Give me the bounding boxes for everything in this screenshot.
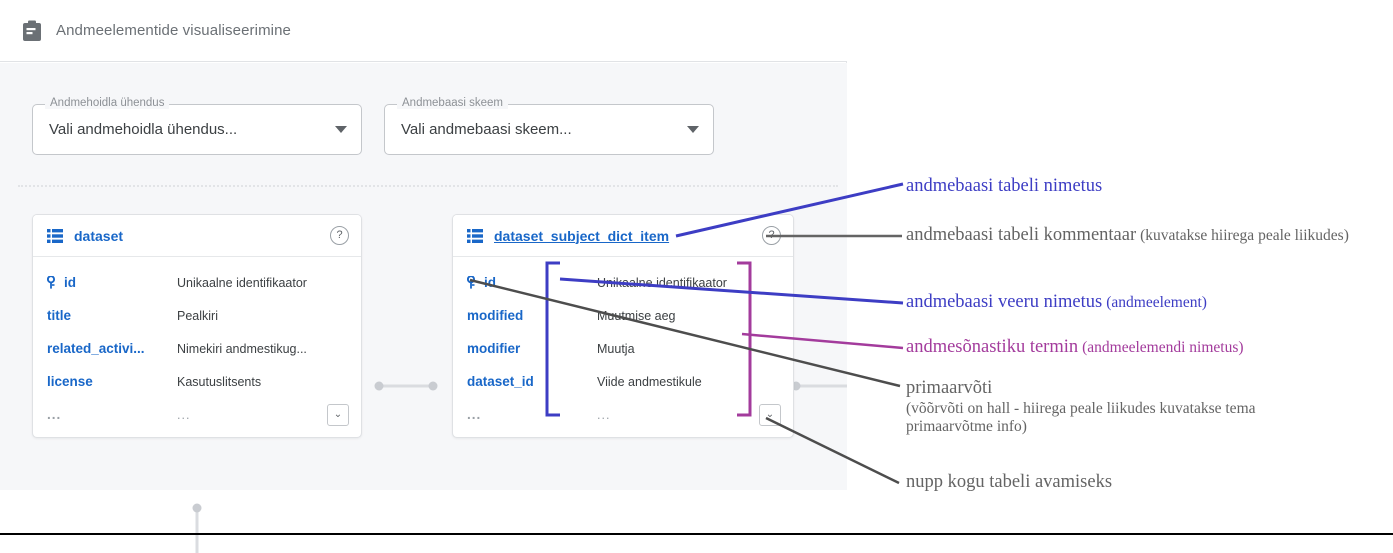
table-row[interactable]: dataset_id Viide andmestikule (453, 365, 793, 398)
table-row-more: ... ... ⌄ (33, 398, 361, 431)
clipboard-icon (22, 20, 42, 42)
annotation-main-text: andmebaasi tabeli kommentaar (906, 225, 1136, 245)
column-name-cell: license (47, 374, 177, 389)
chevron-down-icon[interactable] (335, 126, 347, 133)
column-name-label: license (47, 374, 93, 389)
table-row[interactable]: modified Muutmise aeg (453, 299, 793, 332)
table-name[interactable]: dataset (74, 228, 330, 244)
annotation-sub-text: (kuvatakse hiirega peale liikudes) (1140, 227, 1349, 244)
column-description: Kasutuslitsents (177, 375, 349, 389)
annotation-sub-text: (võõrvõti on hall - hiirega peale liikud… (906, 400, 1346, 437)
column-name-cell: dataset_id (467, 374, 597, 389)
column-name-label: modifier (467, 341, 520, 356)
table-list-icon (47, 229, 63, 243)
column-description: ... (597, 408, 759, 422)
app-header: Andmeelementide visualiseerimine (0, 0, 847, 62)
column-name-label: id (484, 275, 496, 290)
help-circle-icon[interactable]: ? (330, 226, 349, 245)
column-name-label: id (64, 275, 76, 290)
column-name-label: ... (47, 407, 61, 422)
database-schema-value: Vali andmebaasi skeem... (401, 121, 687, 138)
annotation-main-text: primaarvõti (906, 378, 1346, 400)
column-description: Unikaalne identifikaator (597, 276, 781, 290)
database-schema-select[interactable]: Andmebaasi skeem Vali andmebaasi skeem..… (384, 104, 714, 155)
column-description: Unikaalne identifikaator (177, 276, 349, 290)
application-canvas: Andmeelementide visualiseerimine Andmeho… (0, 0, 847, 490)
column-description: ... (177, 408, 327, 422)
annotation-sub-text: (andmeelemendi nimetus) (1082, 339, 1243, 356)
app-body: Andmehoidla ühendus Vali andmehoidla ühe… (0, 63, 847, 490)
column-name-cell: modifier (467, 341, 597, 356)
table-name[interactable]: dataset_subject_dict_item (494, 228, 762, 244)
database-schema-label: Andmebaasi skeem (397, 97, 508, 109)
column-name-label: related_activi... (47, 341, 145, 356)
table-row[interactable]: modifier Muutja (453, 332, 793, 365)
column-name-cell: title (47, 308, 177, 323)
column-name-cell: id (47, 275, 177, 290)
database-schema-select-wrap: Andmebaasi skeem Vali andmebaasi skeem..… (384, 104, 714, 155)
datastore-connection-select-wrap: Andmehoidla ühendus Vali andmehoidla ühe… (32, 104, 362, 155)
annotation-main-text: andmebaasi veeru nimetus (906, 292, 1102, 312)
chevron-down-icon[interactable] (687, 126, 699, 133)
table-card-header: dataset_subject_dict_item ? (453, 215, 793, 257)
column-name-cell: ... (47, 407, 177, 422)
annotation-table-name: andmebaasi tabeli nimetus (906, 176, 1376, 198)
table-row[interactable]: title Pealkiri (33, 299, 361, 332)
annotation-sub-text: (andmeelement) (1106, 294, 1207, 311)
column-description: Muutmise aeg (597, 309, 781, 323)
help-circle-icon[interactable]: ? (762, 226, 781, 245)
annotation-open-table-button: nupp kogu tabeli avamiseks (906, 472, 1346, 494)
table-row[interactable]: id Unikaalne identifikaator (33, 266, 361, 299)
section-divider (18, 185, 838, 187)
table-row[interactable]: id Unikaalne identifikaator (453, 266, 793, 299)
table-row[interactable]: related_activi... Nimekiri andmestikug..… (33, 332, 361, 365)
column-name-label: modified (467, 308, 523, 323)
table-card-header: dataset ? (33, 215, 361, 257)
table-row[interactable]: license Kasutuslitsents (33, 365, 361, 398)
column-name-label: title (47, 308, 71, 323)
column-name-label: dataset_id (467, 374, 534, 389)
column-name-cell: modified (467, 308, 597, 323)
datastore-connection-select[interactable]: Andmehoidla ühendus Vali andmehoidla ühe… (32, 104, 362, 155)
table-card-dataset-subject-dict-item[interactable]: dataset_subject_dict_item ? id Unikaalne… (452, 214, 794, 438)
annotation-primary-key: primaarvõti (võõrvõti on hall - hiirega … (906, 378, 1346, 436)
datastore-connection-value: Vali andmehoidla ühendus... (49, 121, 335, 138)
annotation-column-name: andmebaasi veeru nimetus (andmeelement) (906, 292, 1376, 314)
annotation-dictionary-term: andmesõnastiku termin (andmeelemendi nim… (906, 337, 1376, 359)
annotation-table-comment: andmebaasi tabeli kommentaar (kuvatakse … (906, 225, 1356, 247)
expand-table-button[interactable]: ⌄ (327, 404, 349, 426)
table-column-list: id Unikaalne identifikaator modified Muu… (453, 257, 793, 437)
annotation-main-text: andmebaasi tabeli nimetus (906, 176, 1102, 196)
table-card-dataset[interactable]: dataset ? id Unikaalne identifikaator (32, 214, 362, 438)
key-icon (47, 276, 58, 289)
column-description: Pealkiri (177, 309, 349, 323)
expand-table-button[interactable]: ⌄ (759, 404, 781, 426)
table-list-icon (467, 229, 483, 243)
table-row-more: ... ... ⌄ (453, 398, 793, 431)
annotation-main-text: andmesõnastiku termin (906, 337, 1078, 357)
annotation-main-text: nupp kogu tabeli avamiseks (906, 472, 1112, 492)
datastore-connection-label: Andmehoidla ühendus (45, 97, 169, 109)
column-description: Muutja (597, 342, 781, 356)
bottom-rule (0, 533, 1393, 535)
key-icon (467, 276, 478, 289)
table-column-list: id Unikaalne identifikaator title Pealki… (33, 257, 361, 437)
column-description: Viide andmestikule (597, 375, 781, 389)
column-name-cell: related_activi... (47, 341, 177, 356)
page-title: Andmeelementide visualiseerimine (56, 22, 291, 39)
column-description: Nimekiri andmestikug... (177, 342, 349, 356)
column-name-label: ... (467, 407, 481, 422)
column-name-cell: id (467, 275, 597, 290)
column-name-cell: ... (467, 407, 597, 422)
